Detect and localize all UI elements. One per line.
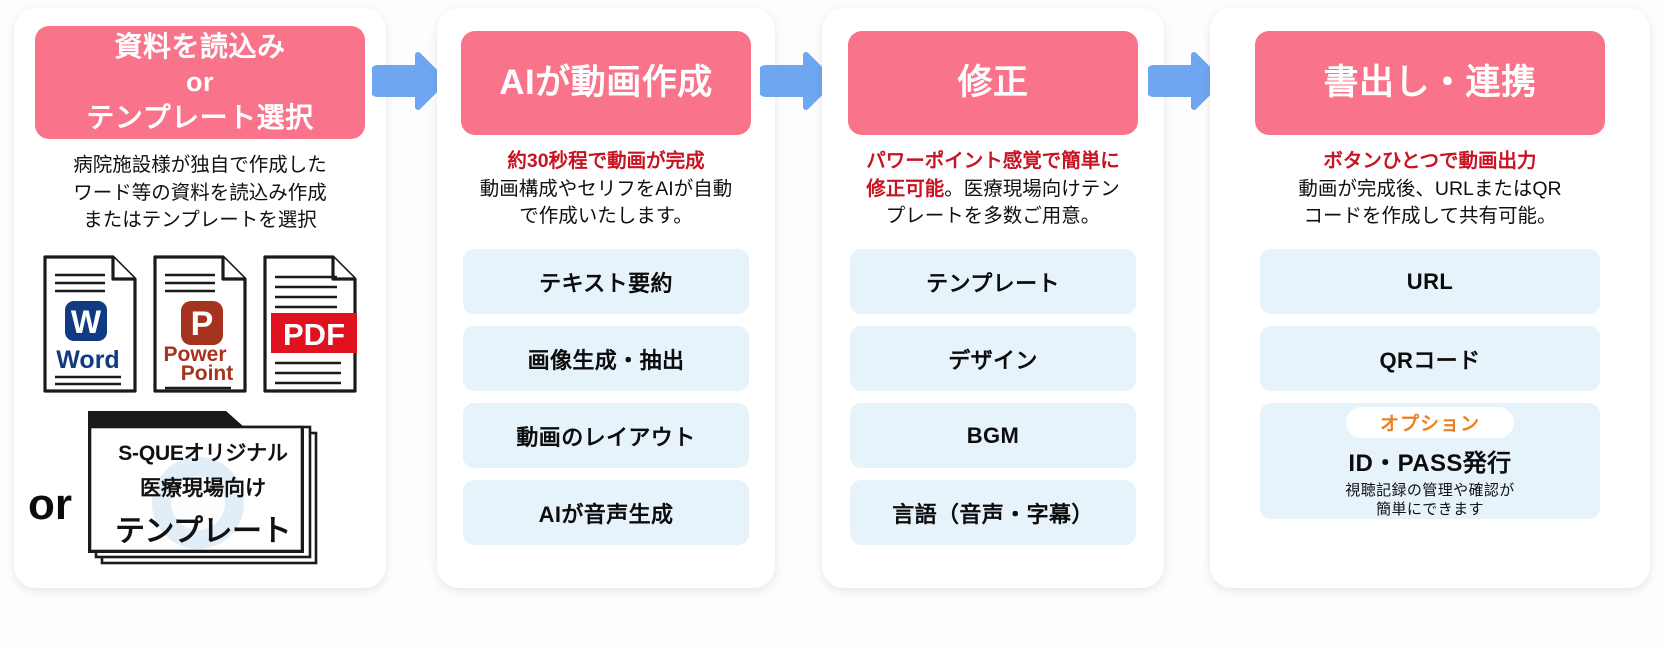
feature-pill[interactable]: デザイン	[850, 326, 1136, 391]
step-2-desc-line-2: で作成いたします。	[456, 203, 756, 231]
svg-text:P: P	[191, 305, 214, 343]
step-3-desc-rest-2: プレートを多数ご用意。	[843, 203, 1143, 231]
word-document-icon: W Word	[41, 253, 139, 395]
step-1-desc-line-2: ワード等の資料を読込み作成	[40, 180, 360, 208]
step-2-highlight: 約30秒程で動画が完成	[456, 148, 756, 176]
pdf-document-icon: PDF	[261, 253, 359, 395]
option-feature-pill[interactable]: オプション ID・PASS発行 視聴記録の管理や確認が 簡単にできます	[1260, 403, 1600, 519]
step-2-desc-line-1: 動画構成やセリフをAIが自動	[456, 176, 756, 204]
step-1-banner-line-3: テンプレート選択	[86, 100, 313, 136]
feature-pill[interactable]: 動画のレイアウト	[463, 403, 749, 468]
process-flow-diagram: 資料を読込み or テンプレート選択 病院施設様が独自で作成した ワード等の資料…	[0, 0, 1666, 649]
document-type-icons: W Word P Power Point	[30, 253, 370, 395]
option-sub-line-2: 簡単にできます	[1345, 501, 1514, 520]
step-1-banner: 資料を読込み or テンプレート選択	[35, 26, 365, 139]
feature-pill[interactable]: 言語（音声・字幕）	[850, 480, 1136, 545]
step-2-feature-list: テキスト要約 画像生成・抽出 動画のレイアウト AIが音声生成	[463, 249, 749, 545]
step-card-2: AIが動画作成 約30秒程で動画が完成 動画構成やセリフをAIが自動 で作成いた…	[437, 8, 775, 588]
step-3-banner-line-1: 修正	[957, 61, 1028, 106]
feature-pill[interactable]: BGM	[850, 403, 1136, 468]
step-card-4: 書出し・連携 ボタンひとつで動画出力 動画が完成後、URLまたはQR コードを作…	[1210, 8, 1650, 588]
step-3-highlight-line-1: パワーポイント感覚で簡単に	[843, 148, 1143, 176]
svg-text:Point: Point	[181, 362, 234, 385]
step-1-description: 病院施設様が独自で作成した ワード等の資料を読込み作成 またはテンプレートを選択	[40, 152, 360, 235]
step-3-desc-rest-1: 。医療現場向けテン	[944, 178, 1120, 200]
step-3-highlight-line-2: 修正可能	[866, 178, 944, 200]
step-2-banner-line-1: AIが動画作成	[499, 61, 713, 106]
step-3-description: パワーポイント感覚で簡単に 修正可能。医療現場向けテン プレートを多数ご用意。	[843, 148, 1143, 231]
feature-pill[interactable]: QRコード	[1260, 326, 1600, 391]
option-badge: オプション	[1346, 407, 1514, 438]
step-1-banner-line-1: 資料を読込み	[114, 29, 285, 65]
step-1-banner-line-2: or	[186, 65, 214, 100]
or-template-row: or S-QUEオリジナル 医療現場向け テンプレート	[20, 405, 380, 575]
step-4-desc-line-1: 動画が完成後、URLまたはQR	[1265, 176, 1595, 204]
svg-text:PDF: PDF	[283, 317, 345, 352]
feature-pill[interactable]: 画像生成・抽出	[463, 326, 749, 391]
feature-pill[interactable]: AIが音声生成	[463, 480, 749, 545]
option-subtext: 視聴記録の管理や確認が 簡単にできます	[1345, 482, 1514, 520]
svg-text:Word: Word	[56, 346, 119, 374]
step-4-banner: 書出し・連携	[1255, 31, 1605, 135]
template-line-1: S-QUEオリジナル	[94, 437, 312, 467]
powerpoint-document-icon: P Power Point	[151, 253, 249, 395]
step-4-feature-list: URL QRコード オプション ID・PASS発行 視聴記録の管理や確認が 簡単…	[1260, 249, 1600, 519]
step-2-banner: AIが動画作成	[461, 31, 751, 135]
template-line-2: 医療現場向け	[94, 472, 312, 502]
feature-pill[interactable]: テキスト要約	[463, 249, 749, 314]
step-3-banner: 修正	[848, 31, 1138, 135]
feature-pill[interactable]: URL	[1260, 249, 1600, 314]
svg-text:W: W	[71, 304, 102, 340]
template-card-text: S-QUEオリジナル 医療現場向け テンプレート	[94, 437, 312, 550]
step-4-highlight: ボタンひとつで動画出力	[1265, 148, 1595, 176]
option-sub-line-1: 視聴記録の管理や確認が	[1345, 482, 1514, 501]
step-card-1: 資料を読込み or テンプレート選択 病院施設様が独自で作成した ワード等の資料…	[14, 8, 386, 588]
or-label: or	[28, 480, 72, 530]
step-4-description: ボタンひとつで動画出力 動画が完成後、URLまたはQR コードを作成して共有可能…	[1265, 148, 1595, 231]
squé-template-stack: S-QUEオリジナル 医療現場向け テンプレート	[78, 405, 340, 575]
template-line-3: テンプレート	[94, 506, 312, 550]
option-title: ID・PASS発行	[1348, 443, 1511, 478]
step-card-3: 修正 パワーポイント感覚で簡単に 修正可能。医療現場向けテン プレートを多数ご用…	[822, 8, 1164, 588]
feature-pill[interactable]: テンプレート	[850, 249, 1136, 314]
step-4-banner-line-1: 書出し・連携	[1323, 61, 1536, 106]
step-2-description: 約30秒程で動画が完成 動画構成やセリフをAIが自動 で作成いたします。	[456, 148, 756, 231]
step-4-desc-line-2: コードを作成して共有可能。	[1265, 203, 1595, 231]
step-1-desc-line-3: またはテンプレートを選択	[40, 207, 360, 235]
step-1-desc-line-1: 病院施設様が独自で作成した	[40, 152, 360, 180]
step-3-feature-list: テンプレート デザイン BGM 言語（音声・字幕）	[850, 249, 1136, 545]
